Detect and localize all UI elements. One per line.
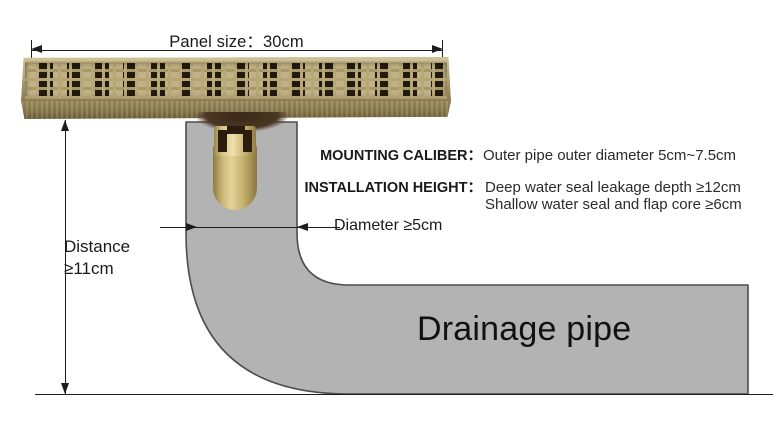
distance-label: Distance ≥11cm [64, 236, 130, 280]
panel-dim-arrow-right-icon [432, 45, 443, 53]
spec-installation-height: INSTALLATION HEIGHT： Deep water seal lea… [0, 176, 773, 197]
ground-baseline [35, 394, 773, 395]
distance-arrow-up-icon [61, 120, 69, 131]
spec-installation-height-value-line2: Shallow water seal and flap core ≥6cm [485, 196, 742, 213]
diameter-dimension-line [160, 227, 340, 228]
grate-frame [21, 57, 451, 103]
distance-arrow-down-icon [61, 383, 69, 394]
spec-mounting-caliber-key: MOUNTING CALIBER： [0, 144, 482, 165]
panel-size-dimension-line [31, 50, 443, 51]
spec-mounting-caliber: MOUNTING CALIBER： Outer pipe outer diame… [0, 144, 773, 165]
brass-water-seal-core [213, 126, 257, 210]
diameter-label: Diameter ≥5cm [334, 217, 442, 235]
distance-label-line1: Distance [64, 236, 130, 258]
spec-installation-height-key: INSTALLATION HEIGHT： [0, 176, 482, 197]
panel-size-label: Panel size：30cm [0, 28, 473, 52]
diameter-arrow-right-icon [297, 223, 308, 231]
distance-label-line2: ≥11cm [64, 258, 130, 280]
spec-mounting-caliber-value: Outer pipe outer diameter 5cm~7.5cm [482, 147, 736, 164]
spec-installation-height-value: Deep water seal leakage depth ≥12cm [482, 179, 741, 196]
grate-top-face [21, 57, 451, 103]
drain-installation-diagram: Panel size：30cm Distance ≥11cm [0, 0, 773, 424]
drainage-pipe-caption: Drainage pipe [417, 310, 631, 349]
diameter-arrow-left-icon [186, 223, 197, 231]
drain-grate-panel [21, 57, 451, 119]
panel-dim-arrow-left-icon [31, 45, 42, 53]
